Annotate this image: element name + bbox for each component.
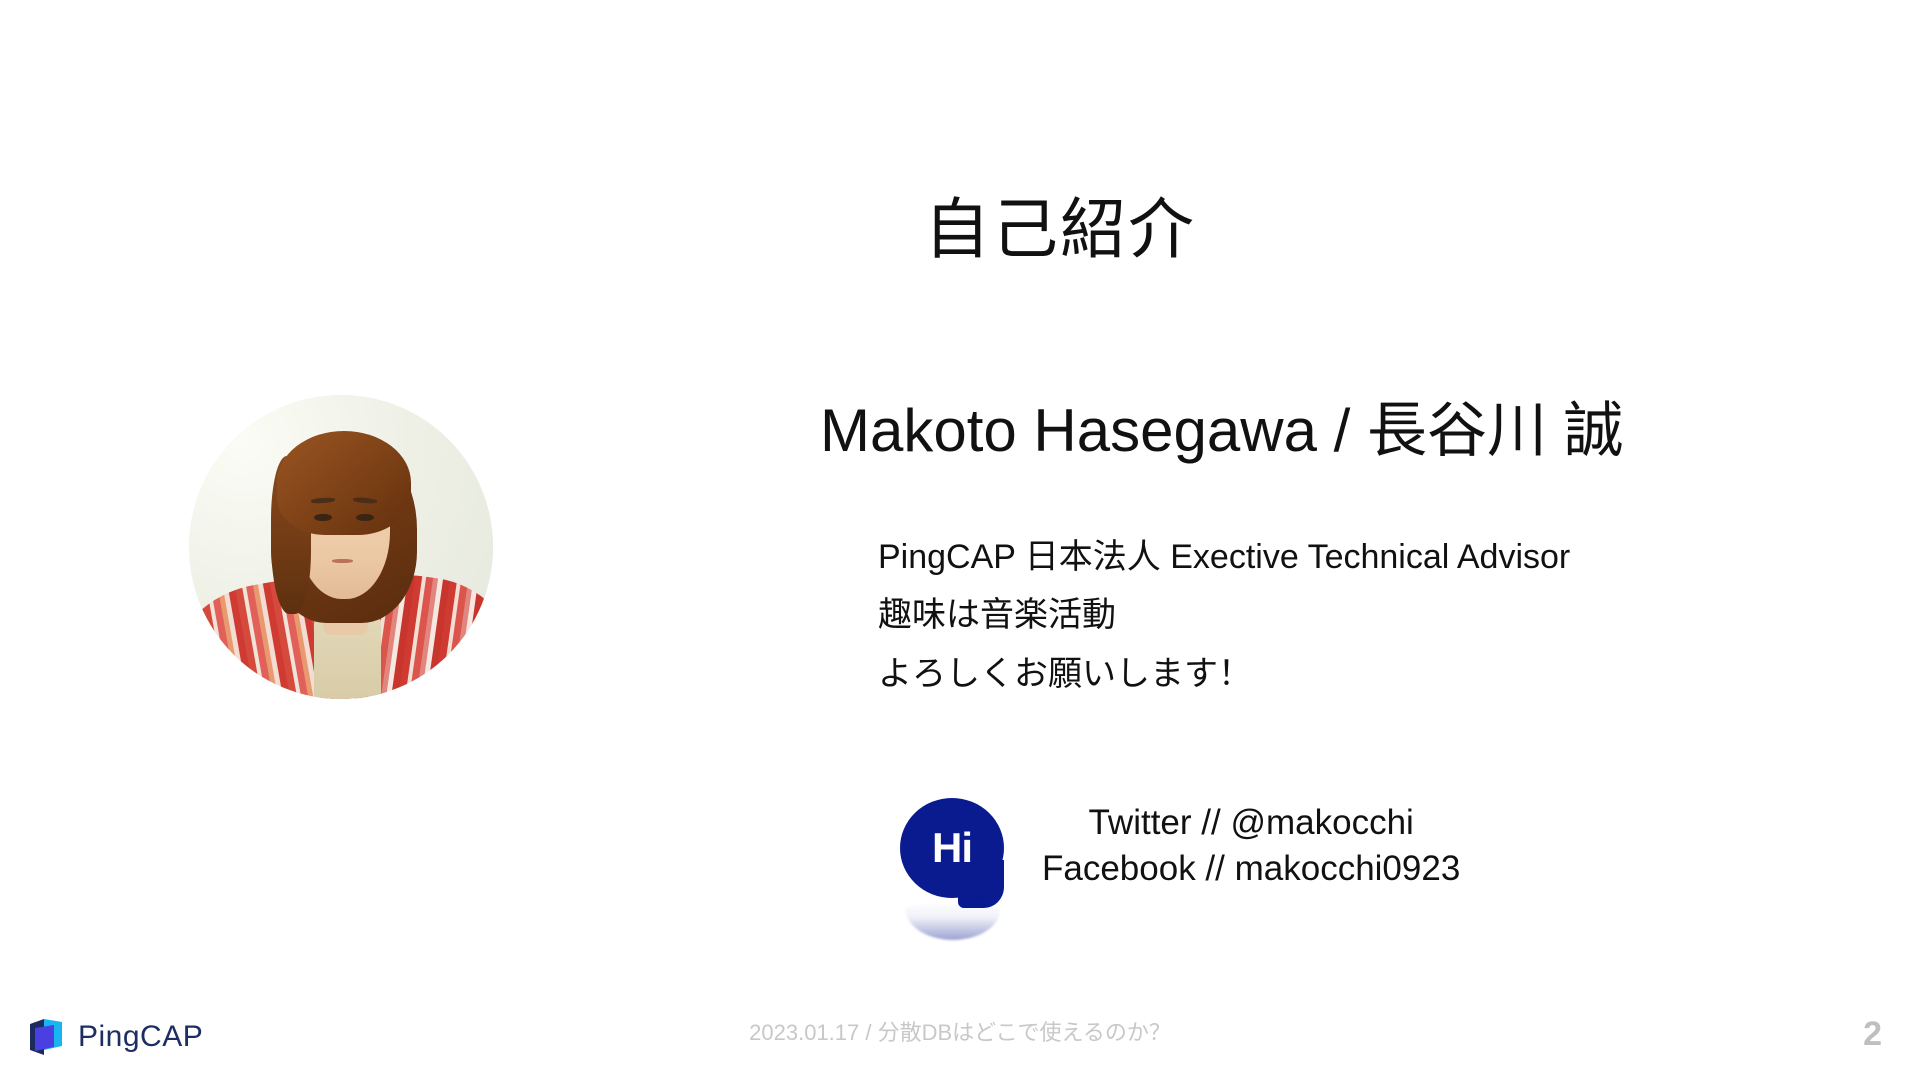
bio-block: PingCAP 日本法人 Exective Technical Advisor … — [878, 528, 1570, 703]
bio-line-greeting: よろしくお願いします！ — [878, 645, 1570, 703]
photo-hair-front — [277, 431, 411, 534]
social-block: Hi Twitter // @makocchi Facebook // mako… — [896, 798, 1460, 938]
bio-line-role: PingCAP 日本法人 Exective Technical Advisor — [878, 528, 1570, 586]
page-title-text: 自己紹介 — [924, 176, 1196, 272]
social-handles: Twitter // @makocchi Facebook // makocch… — [1042, 798, 1460, 892]
twitter-handle[interactable]: Twitter // @makocchi — [1042, 800, 1460, 846]
facebook-handle[interactable]: Facebook // makocchi0923 — [1042, 846, 1460, 892]
profile-photo — [189, 395, 493, 699]
person-name: Makoto Hasegawa / 長谷川 誠 — [820, 382, 1624, 469]
slide-root: 自己紹介 Makoto Hasegawa / 長谷川 誠 PingCAP 日本法… — [0, 0, 1920, 1080]
speech-bubble-label: Hi — [900, 798, 1004, 898]
speech-bubble-icon: Hi — [896, 798, 1008, 938]
page-number: 2 — [1863, 1015, 1882, 1054]
speech-bubble-reflection — [906, 902, 1000, 940]
portrait-frame — [45, 248, 637, 840]
bio-line-hobby: 趣味は音楽活動 — [878, 586, 1570, 644]
page-title: 自己紹介 — [0, 176, 1920, 272]
footer-meta: 2023.01.17 / 分散DBはどこで使えるのか？ — [0, 1015, 1920, 1047]
